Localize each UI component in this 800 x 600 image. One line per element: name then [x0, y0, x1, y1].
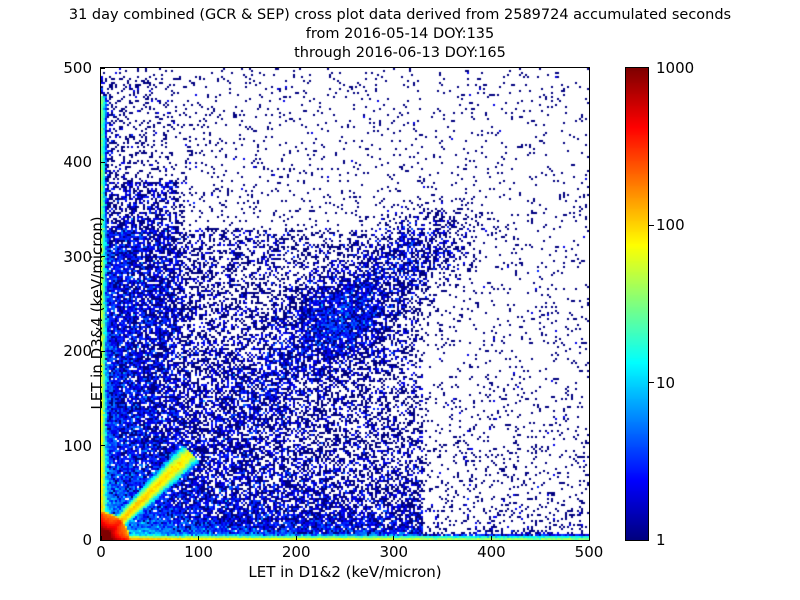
- x-tick-mark: [393, 536, 394, 541]
- x-tick-label: 300: [364, 543, 424, 561]
- x-tick-mark: [198, 536, 199, 541]
- y-tick-label: 200: [46, 342, 92, 360]
- plot-area: [100, 67, 590, 541]
- x-axis-title: LET in D1&2 (keV/micron): [100, 563, 590, 581]
- x-tick-mark: [589, 536, 590, 541]
- chart-title: 31 day combined (GCR & SEP) cross plot d…: [0, 6, 800, 63]
- colorbar: [625, 67, 649, 541]
- x-tick-label: 500: [559, 543, 619, 561]
- x-tick-label: 100: [169, 543, 229, 561]
- x-tick-mark: [491, 536, 492, 541]
- colorbar-tick-label: 10: [656, 374, 675, 392]
- colorbar-tick-label: 1: [656, 531, 666, 549]
- y-tick-label: 300: [46, 248, 92, 266]
- colorbar-tick-label: 1000: [656, 59, 694, 77]
- y-tick-label: 500: [46, 59, 92, 77]
- y-tick-mark: [100, 68, 105, 69]
- y-tick-label: 100: [46, 437, 92, 455]
- y-tick-label: 0: [46, 531, 92, 549]
- colorbar-gradient: [626, 68, 648, 540]
- colorbar-tick-label: 100: [656, 216, 685, 234]
- y-axis-title: LET in D3&4 (keV/micron): [88, 76, 106, 550]
- colorbar-tick-mark: [649, 382, 654, 383]
- x-tick-label: 400: [461, 543, 521, 561]
- y-tick-label: 400: [46, 153, 92, 171]
- x-tick-label: 200: [266, 543, 326, 561]
- x-tick-mark: [296, 536, 297, 541]
- figure-root: 31 day combined (GCR & SEP) cross plot d…: [0, 0, 800, 600]
- title-line-1: 31 day combined (GCR & SEP) cross plot d…: [0, 6, 800, 25]
- title-line-2: from 2016-05-14 DOY:135: [0, 25, 800, 44]
- colorbar-tick-mark: [649, 225, 654, 226]
- density-scatter-canvas: [101, 68, 589, 540]
